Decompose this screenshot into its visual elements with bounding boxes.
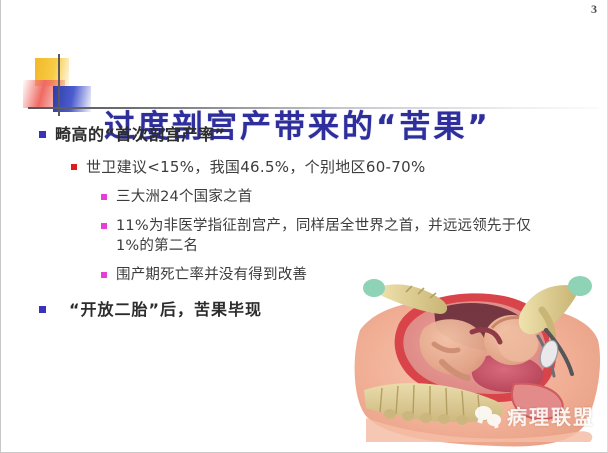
- watermark-label: 病理联盟: [507, 401, 595, 430]
- bullet-square-icon: [39, 306, 46, 313]
- slide-canvas: 3 过度剖宫产带来的“苦果” 畸高的“首次剖宫产率” 世卫建议<15%，我国46…: [0, 0, 608, 453]
- title-block: 过度剖宫产带来的“苦果”: [1, 46, 608, 116]
- list-item: 三大洲24个国家之首: [101, 187, 608, 208]
- bullet-square-icon: [71, 164, 77, 170]
- ovary-right: [568, 276, 592, 296]
- bullet-square-icon: [39, 131, 46, 138]
- list-item-label: 畸高的“首次剖宫产率”: [55, 124, 226, 147]
- list-item-label: 三大洲24个国家之首: [116, 187, 252, 208]
- list-item: 11%为非医学指征剖宫产，同样居全世界之首，并远远领先于仅1%的第二名: [101, 216, 608, 257]
- ovary-left: [363, 279, 385, 297]
- title-underline-rule: [29, 107, 599, 109]
- bullet-square-icon: [101, 223, 107, 229]
- bullet-square-icon: [101, 272, 107, 278]
- list-item-label: “开放二胎”后，苦果毕现: [55, 299, 262, 322]
- list-item: 畸高的“首次剖宫产率”: [39, 124, 608, 147]
- list-item: 世卫建议<15%，我国46.5%，个别地区60-70%: [71, 157, 608, 178]
- list-item-label: 围产期死亡率并没有得到改善: [116, 265, 307, 286]
- bullet-square-icon: [101, 194, 107, 200]
- wechat-icon: [475, 406, 501, 426]
- watermark: 病理联盟: [475, 401, 595, 430]
- list-item-label: 11%为非医学指征剖宫产，同样居全世界之首，并远远领先于仅1%的第二名: [116, 216, 536, 257]
- list-item-label: 世卫建议<15%，我国46.5%，个别地区60-70%: [86, 157, 426, 178]
- page-number: 3: [591, 2, 597, 17]
